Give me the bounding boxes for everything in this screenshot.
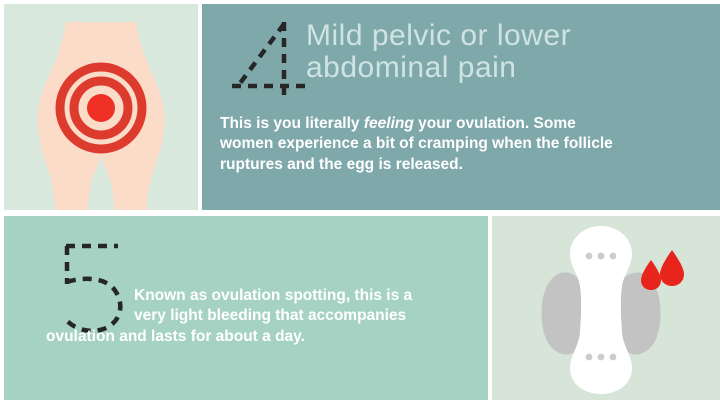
body-4-seg-3: your ovulation. Some xyxy=(414,115,576,132)
symptom-4-body: This is you literally feeling your ovula… xyxy=(220,114,704,175)
body-4-seg-1: This is you literally xyxy=(220,115,364,132)
symptom-4-body-line-2: women experience a bit of cramping when … xyxy=(220,134,704,154)
torso-svg xyxy=(4,4,198,210)
sanitary-pad-illustration xyxy=(492,216,720,400)
pad-dots-bottom xyxy=(586,354,617,361)
pelvic-pain-target-icon xyxy=(60,67,142,149)
pad-dots-top xyxy=(586,253,617,260)
symptom-4-body-line-3: ruptures and the egg is released. xyxy=(220,155,704,175)
symptom-5-body-line-1: Known as ovulation spotting, this is a xyxy=(0,286,460,306)
symptom-5-body-line-3: ovulation and lasts for about a day. xyxy=(0,327,460,347)
numeral-4 xyxy=(224,16,316,113)
female-torso-illustration xyxy=(4,4,198,210)
pad-svg xyxy=(492,216,720,400)
blood-drop-large-icon xyxy=(660,250,684,286)
symptom-4-body-line-1: This is you literally feeling your ovula… xyxy=(220,114,704,134)
symptom-4-heading: Mild pelvic or lower abdominal pain xyxy=(306,20,706,85)
symptom-5-body: Known as ovulation spotting, this is a v… xyxy=(0,286,460,347)
symptom-5-body-line-2: very light bleeding that accompanies xyxy=(0,306,460,326)
pad-wing-left xyxy=(542,272,582,354)
infographic-root: Mild pelvic or lower abdominal pain This… xyxy=(0,0,720,404)
panel-illustration-pelvic xyxy=(4,4,198,210)
numeral-4-svg xyxy=(224,16,316,108)
panel-illustration-pad xyxy=(492,216,720,400)
blood-drop-small-icon xyxy=(641,260,661,290)
body-4-emphasis: feeling xyxy=(364,115,414,132)
panel-symptom-4: Mild pelvic or lower abdominal pain This… xyxy=(202,4,720,210)
